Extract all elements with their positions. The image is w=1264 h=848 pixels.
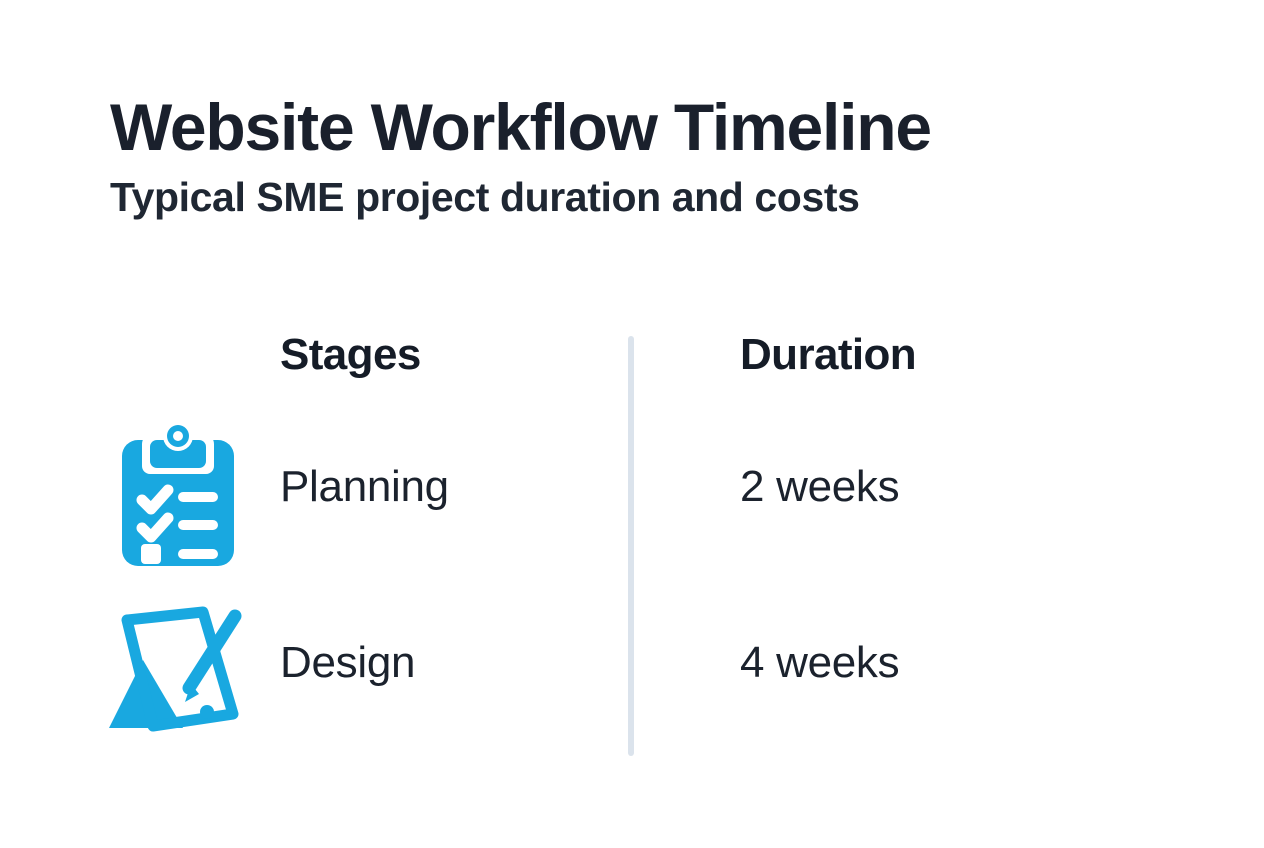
table-row: Planning 2 weeks: [0, 414, 1264, 590]
table-header-row: Stages Duration: [0, 330, 1264, 412]
duration-value: 4 weeks: [740, 638, 899, 688]
page-title: Website Workflow Timeline: [110, 92, 1190, 163]
table-row: Design 4 weeks: [0, 590, 1264, 766]
tablet-stylus-design-icon: [104, 590, 252, 750]
header: Website Workflow Timeline Typical SME pr…: [110, 92, 1190, 221]
stage-label: Planning: [280, 462, 449, 512]
workflow-table: Stages Duration: [0, 330, 1264, 770]
column-header-duration: Duration: [740, 330, 916, 380]
infographic-card: Website Workflow Timeline Typical SME pr…: [0, 0, 1264, 848]
stage-label: Design: [280, 638, 415, 688]
page-subtitle: Typical SME project duration and costs: [110, 175, 1190, 221]
column-header-stages: Stages: [280, 330, 421, 380]
clipboard-checklist-icon: [104, 414, 252, 574]
duration-value: 2 weeks: [740, 462, 899, 512]
